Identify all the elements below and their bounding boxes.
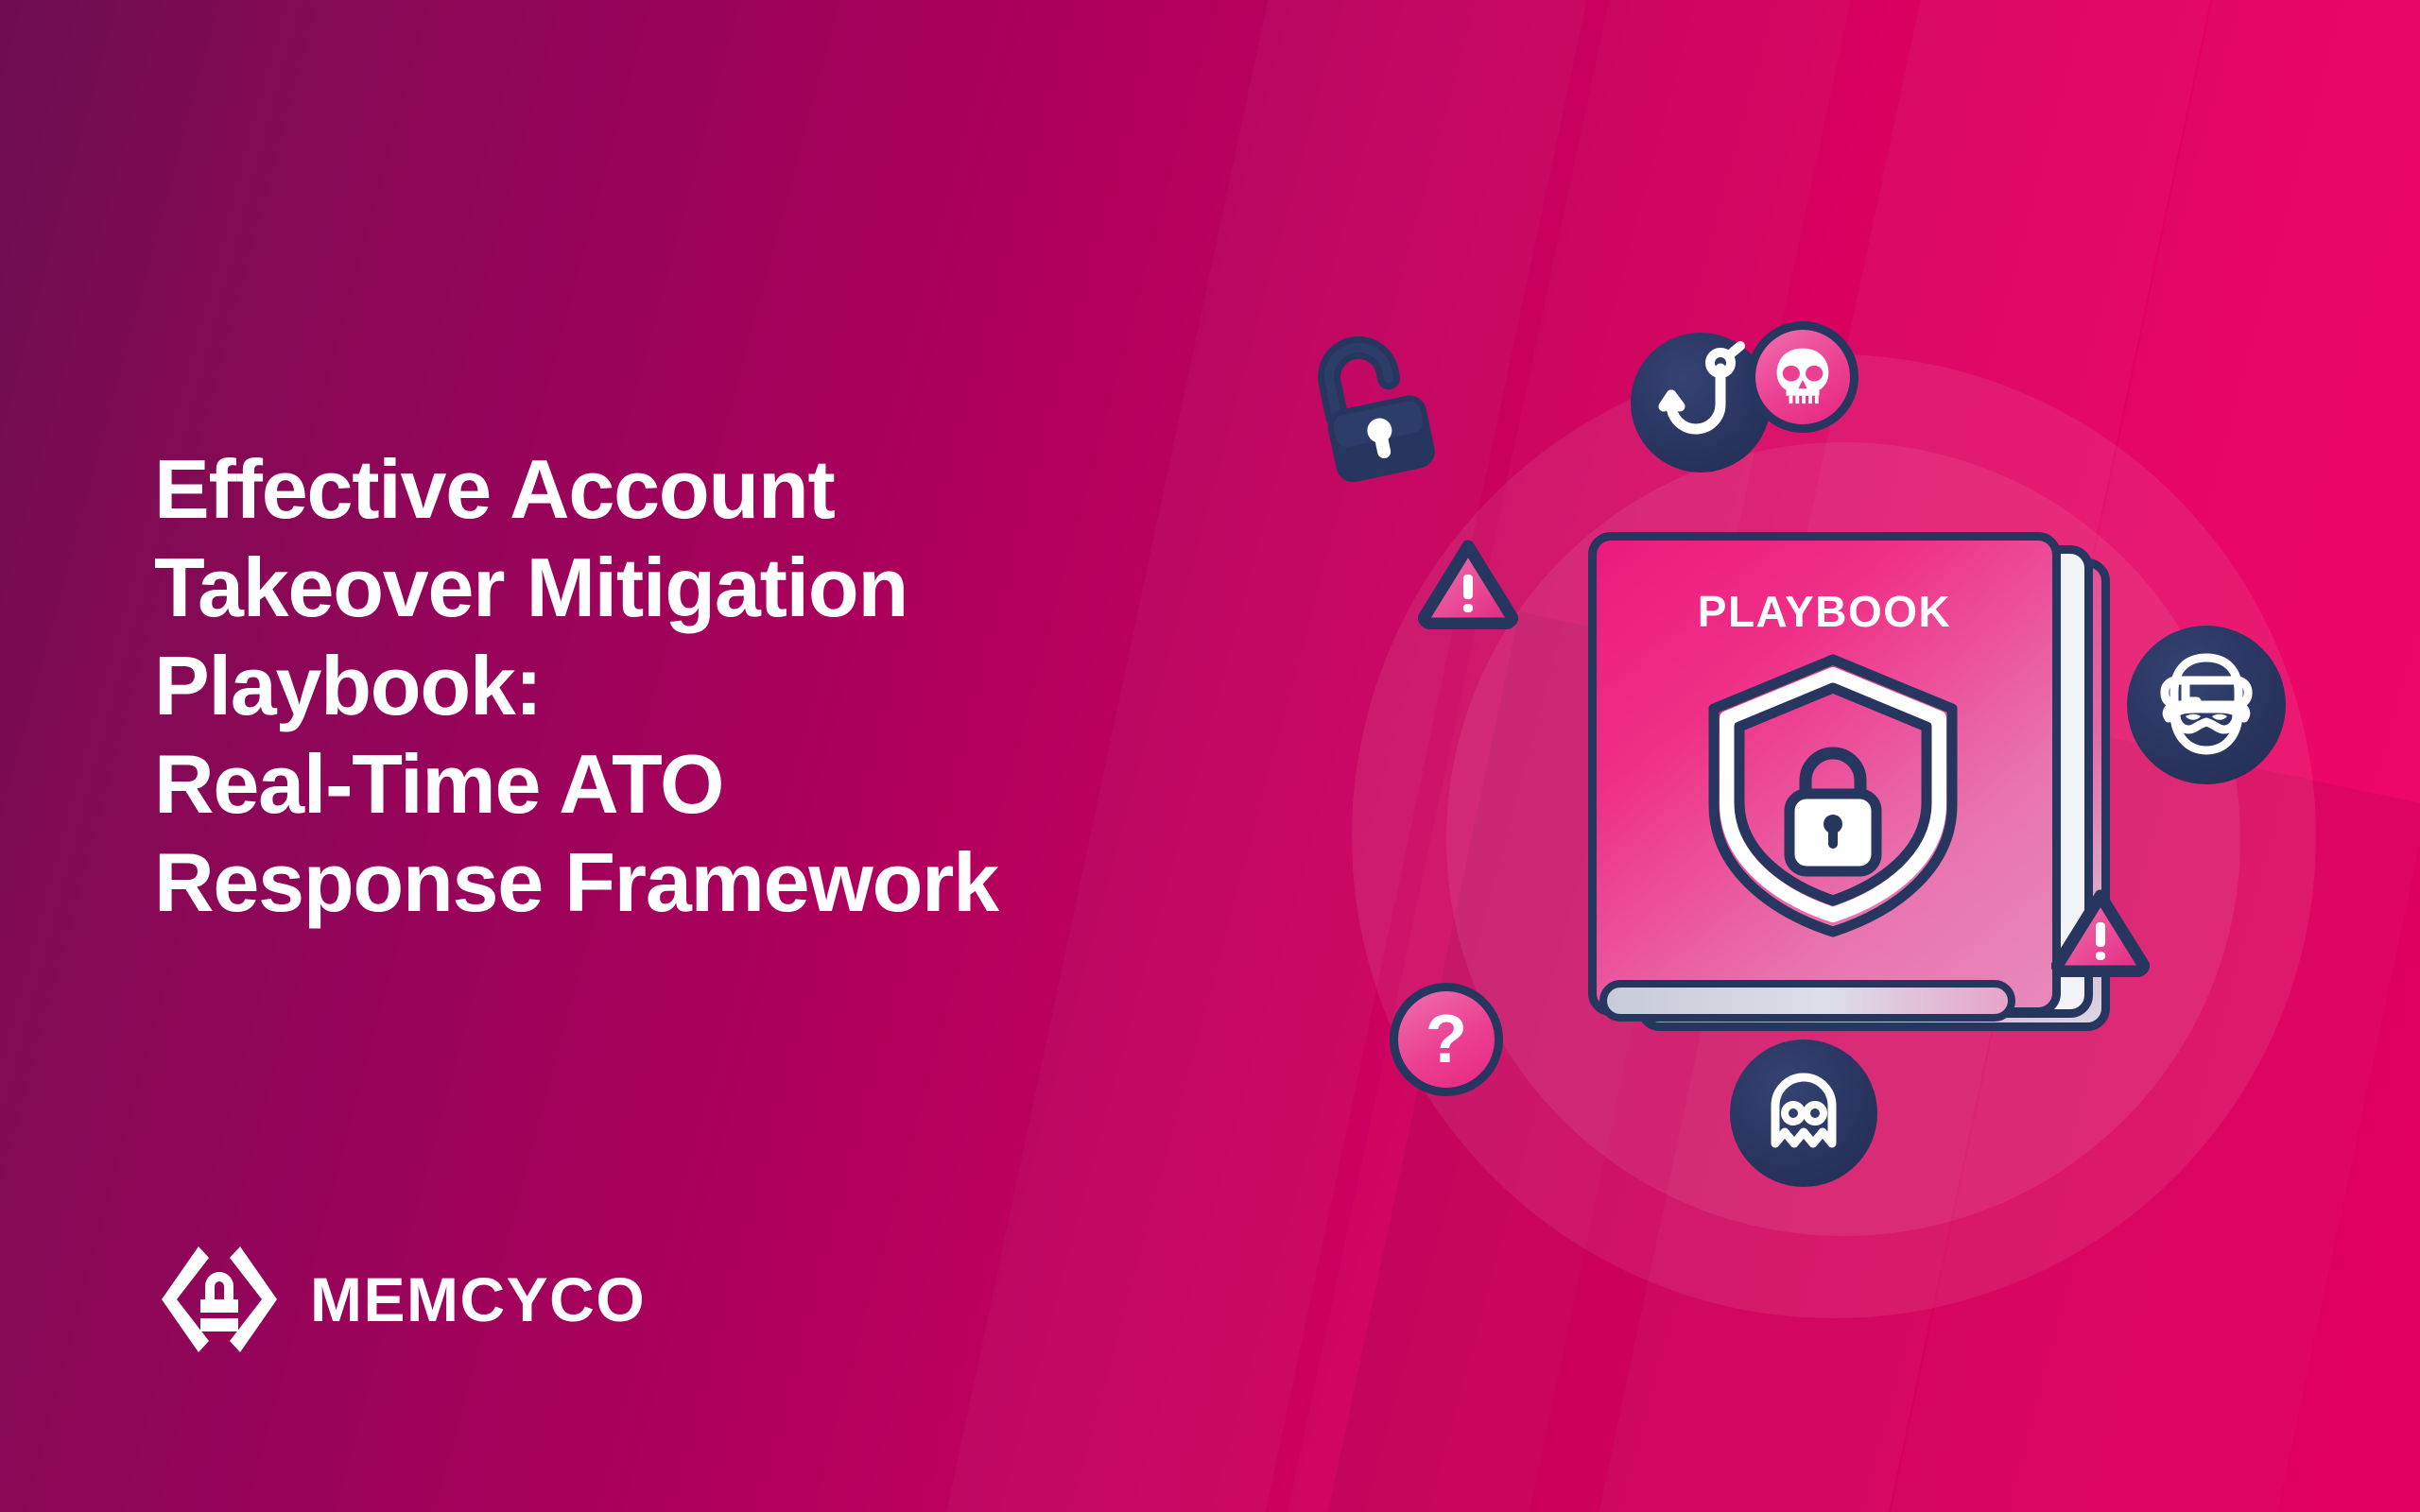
headline-line-1: Effective Account xyxy=(154,440,1478,539)
question-mark-icon: ? xyxy=(1390,983,1503,1096)
headline-line-2: Takeover Mitigation xyxy=(154,539,1478,637)
fish-hook-icon xyxy=(1631,333,1771,472)
angle-brackets-lock-icon xyxy=(161,1241,278,1358)
warning-triangle-icon xyxy=(2051,888,2150,977)
page-title: Effective Account Takeover Mitigation Pl… xyxy=(154,440,1478,932)
open-padlock-icon xyxy=(1295,321,1456,501)
warning-triangle-icon xyxy=(1418,539,1518,629)
headline-line-3: Playbook: xyxy=(154,637,1478,735)
ghost-icon xyxy=(1730,1039,1877,1187)
brand-wordmark: MEMCYCO xyxy=(310,1268,646,1331)
book-spine xyxy=(1599,980,2015,1022)
shield-lock-icon xyxy=(1703,654,1963,937)
brand-logo[interactable]: MEMCYCO xyxy=(161,1241,646,1358)
question-mark-label: ? xyxy=(1426,1005,1467,1074)
hero-illustration: PLAYBOOK xyxy=(1295,321,2420,1512)
book-front-cover: PLAYBOOK xyxy=(1588,532,2061,1016)
headline-line-5: Response Framework xyxy=(154,833,1478,932)
book-cover-title: PLAYBOOK xyxy=(1597,586,2052,637)
skull-icon xyxy=(1747,321,1858,433)
thief-mask-icon xyxy=(2127,626,2286,784)
headline-line-4: Real-Time ATO xyxy=(154,735,1478,833)
hero-banner: Effective Account Takeover Mitigation Pl… xyxy=(0,0,2420,1512)
